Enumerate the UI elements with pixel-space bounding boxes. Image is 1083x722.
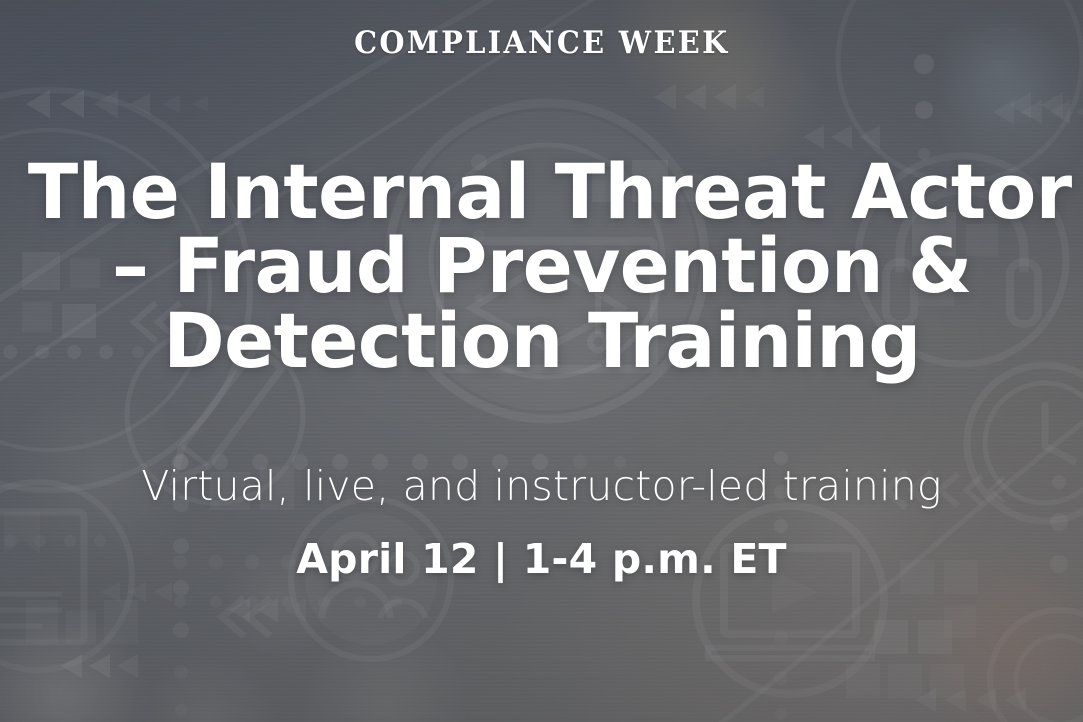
promo-banner: COMPLIANCE WEEK The Internal Threat Acto… [0, 0, 1083, 722]
headline-line-1: The Internal Threat Actor [27, 155, 1055, 229]
compliance-week-logo: COMPLIANCE WEEK [354, 28, 729, 59]
event-subtitle: Virtual, live, and instructor-led traini… [141, 464, 941, 509]
banner-content: COMPLIANCE WEEK The Internal Threat Acto… [0, 0, 1083, 722]
page-title: The Internal Threat Actor – Fraud Preven… [14, 155, 1069, 378]
event-date-time: April 12 | 1-4 p.m. ET [296, 537, 786, 582]
headline-line-2: – Fraud Prevention & [27, 229, 1055, 303]
headline-line-3: Detection Training [27, 304, 1055, 378]
